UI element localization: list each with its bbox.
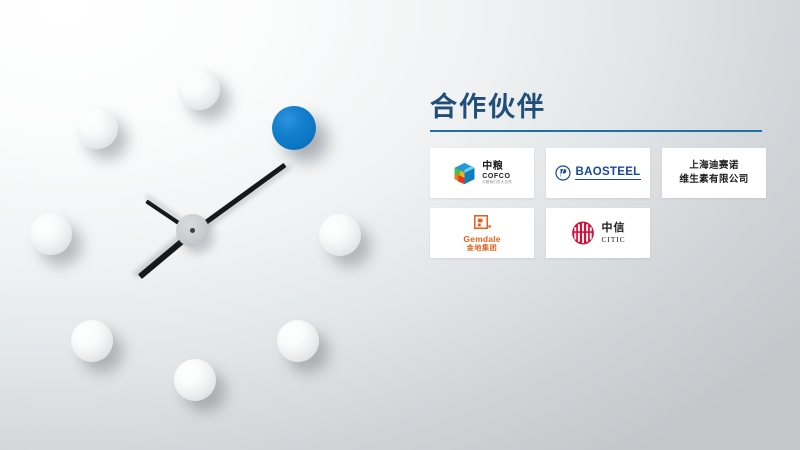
partner-card-gemdale[interactable]: Gemdale 金地集团: [430, 208, 534, 258]
page-title: 合作伙伴: [430, 92, 770, 123]
gemdale-cn-label: 金地集团: [463, 245, 500, 252]
clock-marker-12: [178, 68, 220, 110]
cofco-cn-label: 中粮: [482, 162, 512, 172]
clock-hub: [176, 214, 209, 247]
cofco-tagline: 中粮我们的大自然: [482, 181, 512, 184]
desano-line-1: 上海迪赛诺: [679, 159, 748, 173]
clock-marker-6: [174, 359, 216, 401]
partner-card-baosteel[interactable]: BAOSTEEL: [546, 148, 650, 198]
clock-marker-9: [30, 213, 72, 255]
cofco-cube-icon: [452, 161, 477, 186]
baosteel-circle-icon: [555, 165, 571, 181]
citic-seal-icon: [570, 220, 596, 246]
clock-marker-3: [319, 214, 361, 256]
desano-line-2: 维生素有限公司: [679, 173, 748, 187]
baosteel-wordmark: BAOSTEEL: [575, 166, 640, 180]
gemdale-square-icon: [473, 214, 492, 233]
clock-marker-4: [277, 320, 319, 362]
wall-clock-graphic: [8, 10, 408, 440]
cofco-en-label: COFCO: [482, 173, 512, 180]
clock-marker-7: [71, 320, 113, 362]
gemdale-en-label: Gemdale: [463, 235, 500, 244]
citic-cn-label: 中信: [601, 223, 625, 234]
partner-card-cofco[interactable]: 中粮 COFCO 中粮我们的大自然: [430, 148, 534, 198]
clock-marker-highlight: [272, 106, 316, 150]
partners-panel: 合作伙伴 中粮: [430, 92, 770, 258]
partner-card-citic[interactable]: 中信 CITIC: [546, 208, 650, 258]
slide-canvas: 合作伙伴 中粮: [0, 0, 800, 450]
clock-marker-10: [76, 107, 118, 149]
partner-card-desano[interactable]: 上海迪赛诺 维生素有限公司: [662, 148, 766, 198]
citic-en-label: CITIC: [601, 236, 625, 244]
partner-logo-grid: 中粮 COFCO 中粮我们的大自然 BAOSTEEL: [430, 148, 770, 258]
title-underline-rule: [430, 130, 762, 132]
